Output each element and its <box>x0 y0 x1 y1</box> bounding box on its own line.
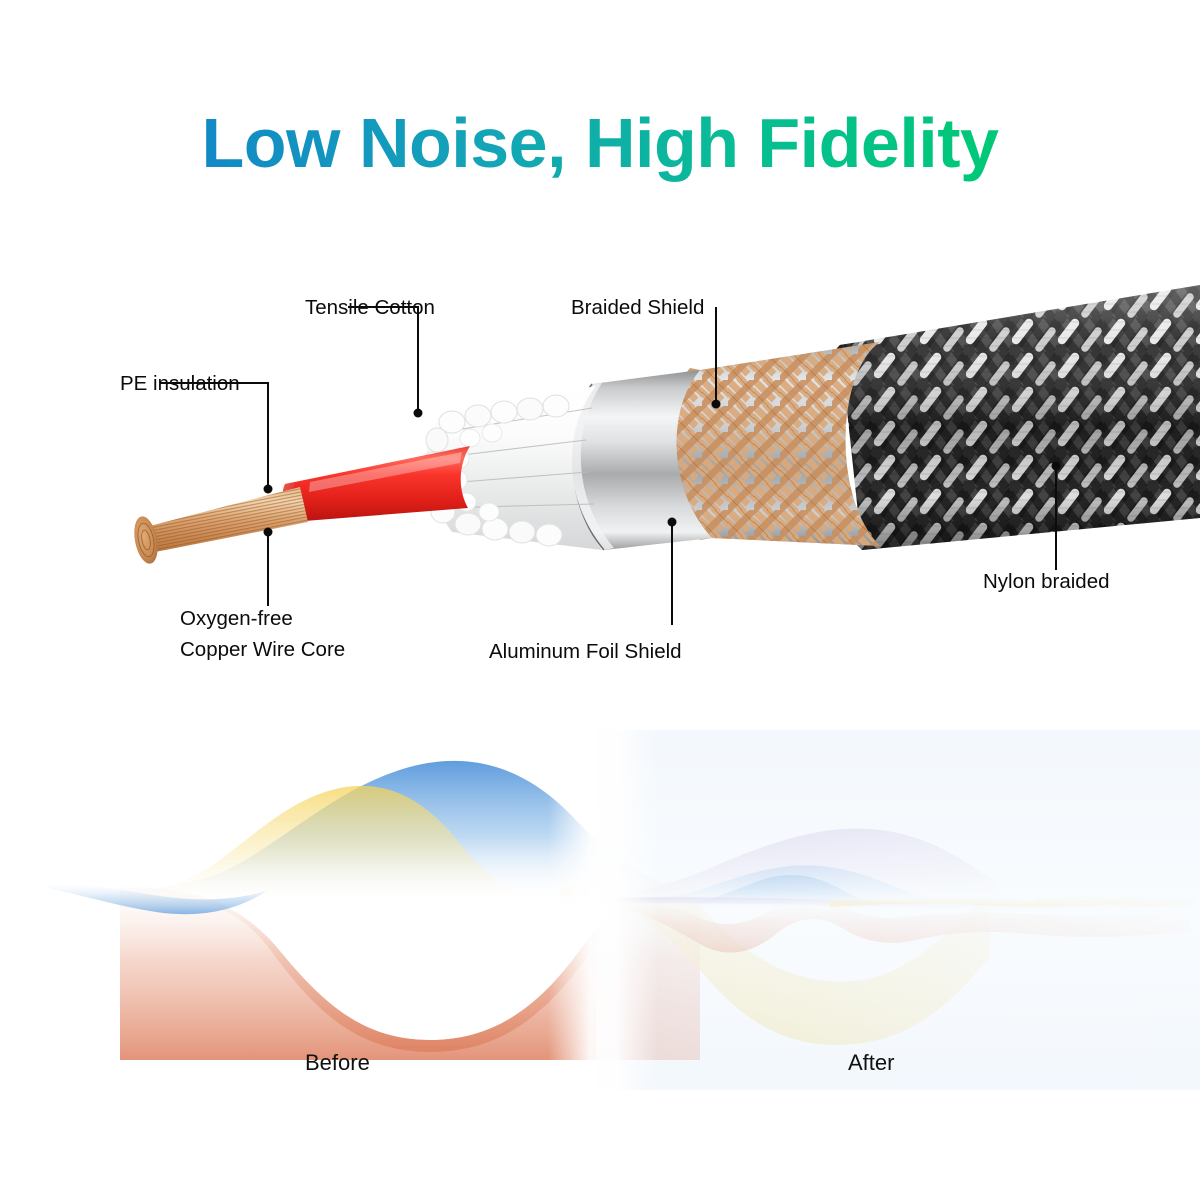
cable-diagram: PE insulation Tensile Cotton Braided Shi… <box>0 250 1200 690</box>
label-aluminum-foil-shield: Aluminum Foil Shield <box>489 638 682 665</box>
label-braided-shield: Braided Shield <box>571 294 704 321</box>
before-after-waveform-chart <box>0 700 1200 1120</box>
transition-glow <box>548 700 658 1120</box>
label-tensile-cotton: Tensile Cotton <box>305 294 435 321</box>
waveform-comparison: Before After <box>0 700 1200 1120</box>
infographic-page: Low Noise, High Fidelity <box>0 0 1200 1200</box>
label-copper-core-line2: Copper Wire Core <box>180 636 345 663</box>
page-title: Low Noise, High Fidelity <box>0 104 1200 182</box>
label-before: Before <box>305 1050 370 1076</box>
after-region-panel <box>596 730 1200 1090</box>
label-pe-insulation: PE insulation <box>120 370 240 397</box>
label-after: After <box>848 1050 894 1076</box>
layer-copper-core <box>131 487 308 566</box>
label-copper-core-line1: Oxygen-free <box>180 605 293 632</box>
label-nylon-braided: Nylon braided <box>983 568 1110 595</box>
layer-nylon-braided <box>820 285 1200 550</box>
